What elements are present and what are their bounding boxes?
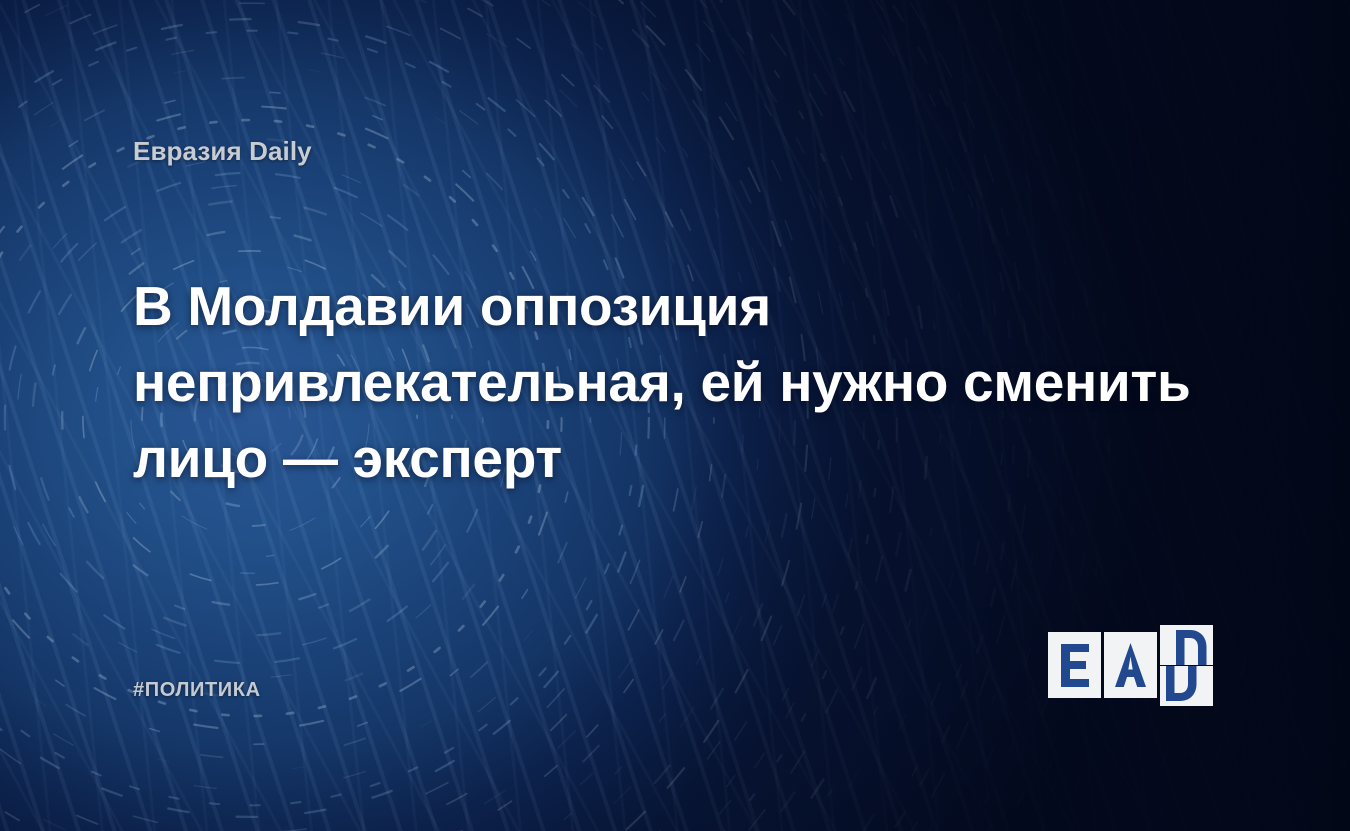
headline-line-1: В Молдавии оппозиция [133,268,1253,344]
logo-tile-d-bottom [1160,666,1213,706]
logo-tile-a [1104,632,1157,698]
eadaily-logo-mark[interactable] [1048,625,1223,713]
category-tag[interactable]: #ПОЛИТИКА [133,679,261,702]
news-share-card: Евразия Daily В Молдавии оппозиция непри… [0,0,1350,831]
outlet-name: Евразия Daily [133,136,312,167]
headline-line-2: непривлекательная, ей нужно сменить [133,344,1253,420]
logo-tile-d-top [1160,625,1213,665]
headline-line-3: лицо — эксперт [133,420,1253,496]
category-tag-label: #ПОЛИТИКА [133,679,261,702]
headline: В Молдавии оппозиция непривлекательная, … [133,268,1253,496]
logo-tile-e [1048,632,1101,698]
outlet-logo-text[interactable]: Евразия Daily [133,136,312,167]
